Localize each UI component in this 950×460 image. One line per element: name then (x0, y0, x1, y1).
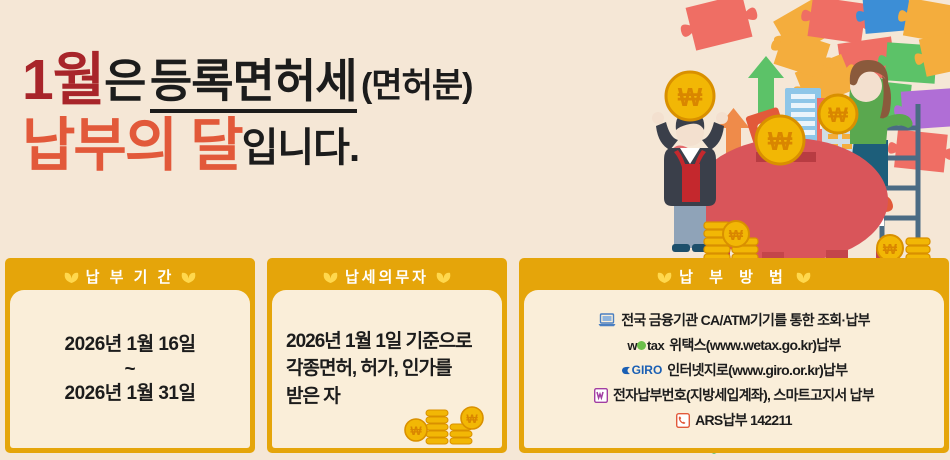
giro-logo-icon: GIRO (621, 363, 663, 377)
payment-method-wetax: wtax 위택스(www.wetax.go.kr)납부 (627, 335, 840, 355)
headline-line-1: 1월은 등록면허세 (면허분) (22, 52, 682, 109)
payment-method-giro: GIRO 인터넷지로(www.giro.or.kr)납부 (621, 360, 848, 380)
info-box-taxpayer: 납세의무자 2026년 1월 1일 기준으로 각종면허, 허가, 인가를 받은 … (267, 258, 507, 453)
svg-text:₩: ₩ (466, 412, 478, 426)
box-header-taxpayer: 납세의무자 (272, 263, 502, 290)
info-boxes-row: 납 부 기 간 2026년 1월 16일 ~ 2026년 1월 31일 납세의무… (0, 258, 950, 453)
svg-text:₩: ₩ (729, 227, 744, 244)
sprout-icon (64, 271, 79, 283)
headline-payment-month: 납부의 달 (22, 113, 242, 178)
payment-method-ars: ARS납부 142211 (676, 410, 792, 430)
info-box-payment-period: 납 부 기 간 2026년 1월 16일 ~ 2026년 1월 31일 (5, 258, 255, 453)
headline-month: 1월 (22, 48, 104, 112)
info-box-payment-methods: 납 부 방 법 전국 금융기관 CA/ATM기기를 통한 조회·납부 (519, 258, 949, 453)
laptop-icon (598, 313, 616, 327)
period-start-date: 2026년 1월 16일 (10, 330, 250, 359)
svg-text:₩: ₩ (768, 126, 793, 156)
sprout-icon (436, 271, 451, 283)
taxpayer-line-1: 2026년 1월 1일 기준으로 (272, 328, 502, 356)
sprout-icon (323, 271, 338, 283)
headline-particle: 은 (104, 55, 145, 107)
headline-tax-name: 등록면허세 (150, 55, 357, 113)
tax-notice-banner: ₩ ₩ ₩ ₩ ₩ (0, 0, 950, 460)
taxpayer-line-2: 각종면허, 허가, 인가를 (272, 355, 502, 383)
headline-tax-subtype: (면허분) (361, 67, 472, 105)
phone-icon (676, 413, 690, 428)
payment-method-wetax-text: 위택스(www.wetax.go.kr)납부 (669, 335, 840, 355)
payment-method-giro-text: 인터넷지로(www.giro.or.kr)납부 (667, 360, 847, 380)
box-body-payment-period: 2026년 1월 16일 ~ 2026년 1월 31일 (10, 290, 250, 448)
period-range-separator: ~ (10, 360, 250, 379)
payment-method-enumber-text: 전자납부번호(지방세입계좌), 스마트고지서 납부 (613, 385, 874, 405)
svg-text:₩: ₩ (410, 424, 422, 438)
svg-text:₩: ₩ (828, 104, 848, 127)
wetax-w-box-icon (594, 388, 608, 403)
period-end-date: 2026년 1월 31일 (10, 379, 250, 408)
sprout-icon (657, 271, 672, 283)
coin-stack-decoration: ₩ ₩ (402, 396, 494, 448)
box-title-taxpayer: 납세의무자 (345, 266, 429, 287)
box-title-payment-methods: 납 부 방 법 (679, 266, 789, 287)
payment-method-ars-text: ARS납부 142211 (695, 410, 792, 430)
sprout-icon (796, 271, 811, 283)
payment-method-atm-text: 전국 금융기관 CA/ATM기기를 통한 조회·납부 (621, 310, 870, 330)
illustration-artwork: ₩ ₩ ₩ ₩ ₩ (650, 0, 950, 270)
payment-method-list: 전국 금융기관 CA/ATM기기를 통한 조회·납부 wtax 위택스(www.… (524, 300, 944, 438)
box-body-taxpayer: 2026년 1월 1일 기준으로 각종면허, 허가, 인가를 받은 자 ₩ ₩ (272, 290, 502, 448)
box-title-payment-period: 납 부 기 간 (86, 266, 175, 287)
wetax-logo-icon: wtax (627, 338, 664, 353)
box-header-payment-period: 납 부 기 간 (10, 263, 250, 290)
sprout-icon (181, 271, 196, 283)
svg-text:₩: ₩ (883, 241, 898, 258)
headline-suffix: 입니다. (242, 126, 360, 170)
payment-method-atm: 전국 금융기관 CA/ATM기기를 통한 조회·납부 (598, 310, 870, 330)
payment-method-enumber: 전자납부번호(지방세입계좌), 스마트고지서 납부 (594, 385, 874, 405)
box-body-payment-methods: 전국 금융기관 CA/ATM기기를 통한 조회·납부 wtax 위택스(www.… (524, 290, 944, 448)
headline-line-2: 납부의 달입니다. (22, 117, 682, 175)
box-header-payment-methods: 납 부 방 법 (524, 263, 944, 290)
headline-block: 1월은 등록면허세 (면허분) 납부의 달입니다. (22, 52, 682, 175)
